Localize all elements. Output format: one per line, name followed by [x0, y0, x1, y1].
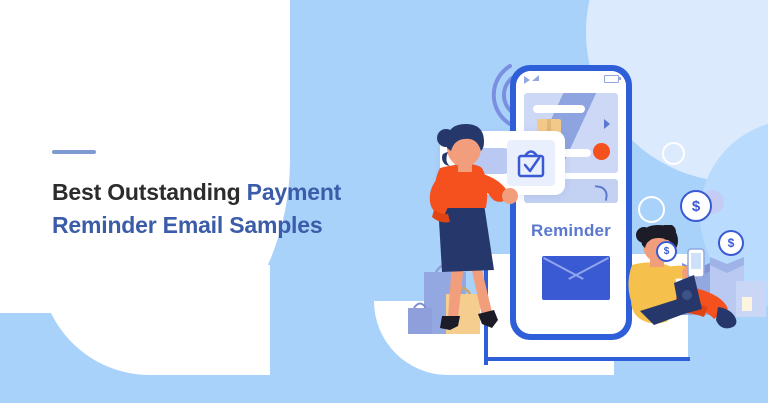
- broadcast-icon: [593, 185, 609, 201]
- scene-wall-edge-bottom: [484, 357, 690, 361]
- accent-rule: [52, 150, 96, 154]
- phone-reminder-label: Reminder: [516, 221, 626, 241]
- headline-highlight-2: Reminder Email Samples: [52, 212, 322, 238]
- decorative-ring-2: [638, 196, 665, 223]
- standing-woman: [412, 122, 522, 347]
- coin-medium: $: [718, 230, 744, 256]
- headline-block: Best Outstanding Payment Reminder Email …: [52, 150, 372, 241]
- battery-icon: [604, 75, 619, 83]
- illustration-scene: Reminder: [374, 0, 768, 403]
- envelope-flap: [542, 256, 610, 280]
- media-text-line-1: [533, 105, 585, 113]
- headline-plain: Best Outstanding: [52, 179, 247, 205]
- speaker-icon: [604, 119, 610, 129]
- signal-icon: [532, 75, 539, 81]
- page-title: Best Outstanding Payment Reminder Email …: [52, 176, 372, 241]
- coin-symbol: $: [728, 236, 735, 250]
- phone-status-bar: [516, 71, 626, 85]
- coin-symbol: $: [664, 246, 670, 257]
- wifi-icon: [524, 76, 530, 84]
- coin-small: $: [656, 241, 677, 262]
- decorative-ring-1: [662, 142, 685, 165]
- coin-large: $: [680, 190, 712, 222]
- envelope-icon: [542, 256, 610, 300]
- record-dot-icon: [593, 143, 610, 160]
- coin-symbol: $: [692, 198, 700, 215]
- banner-root: Best Outstanding Payment Reminder Email …: [0, 0, 768, 403]
- headline-highlight-1: Payment: [247, 179, 341, 205]
